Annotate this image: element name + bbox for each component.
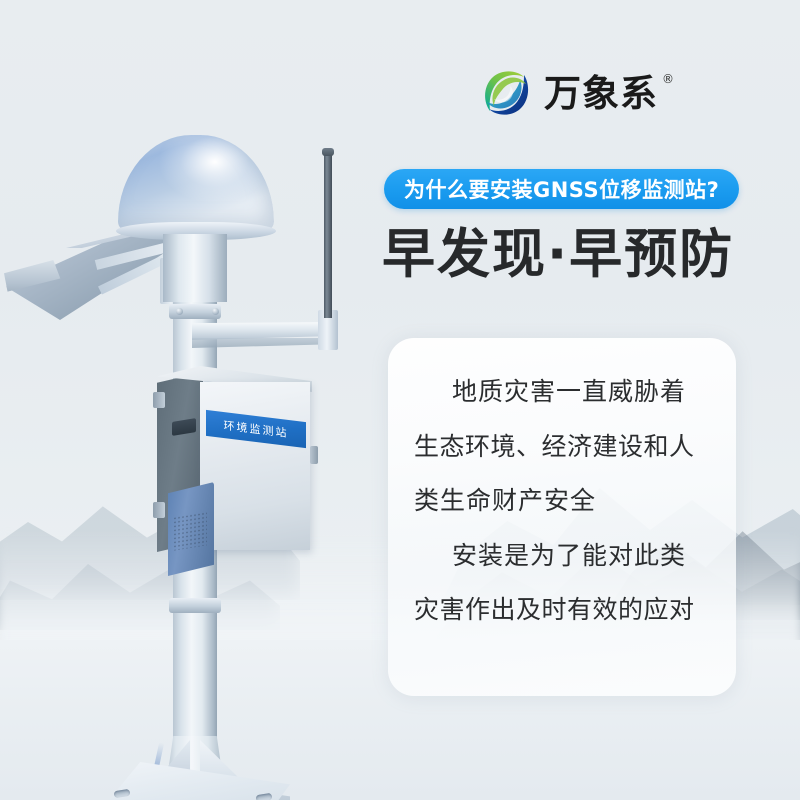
question-badge-text: 为什么要安装GNSS位移监测站? <box>404 174 719 204</box>
description-line: 类生命财产安全 <box>414 485 710 518</box>
mast-clamp-bottom <box>169 598 221 613</box>
whip-antenna-rod <box>324 152 332 318</box>
poster-canvas: 环境监测站 <box>0 0 800 800</box>
clamp-bolt <box>212 308 219 315</box>
base-bolt-slot <box>256 793 273 800</box>
description-panel: 地质灾害一直威胁着 生态环境、经济建设和人 类生命财产安全 安装是为了能对此类 … <box>388 338 736 696</box>
description-line: 生态环境、经济建设和人 <box>414 431 710 464</box>
brand-logo: 万象系 ® <box>480 66 658 120</box>
description-lines: 地质灾害一直威胁着 生态环境、经济建设和人 类生命财产安全 安装是为了能对此类 … <box>388 338 736 696</box>
enclosure-hinge-upper <box>153 392 165 408</box>
gnss-antenna-dome <box>118 135 274 231</box>
description-line: 安装是为了能对此类 <box>414 540 710 573</box>
description-line: 灾害作出及时有效的应对 <box>414 594 710 627</box>
page-title: 早发现·早预防 <box>382 226 734 284</box>
globe-swirl-icon <box>480 66 534 120</box>
brand-name-text: 万象系 <box>544 72 658 115</box>
enclosure-hinge-lower <box>153 502 165 518</box>
product-illustration: 环境监测站 <box>0 110 380 750</box>
mounting-cross-arm <box>192 322 332 340</box>
description-line: 地质灾害一直威胁着 <box>414 376 710 409</box>
cross-arm-underside <box>192 338 332 348</box>
enclosure-label-text: 环境监测站 <box>224 417 289 441</box>
whip-antenna-cap <box>322 148 334 156</box>
enclosure-mesh-grille <box>173 511 207 550</box>
enclosure-latch <box>310 446 318 464</box>
content-column: 万象系 ® 为什么要安装GNSS位移监测站? 早发现·早预防 地质灾害一直威胁着… <box>370 0 800 800</box>
clamp-bolt <box>176 308 183 315</box>
antenna-neck <box>163 234 227 302</box>
registered-trademark-icon: ® <box>662 73 675 85</box>
equipment-enclosure-box <box>200 382 310 550</box>
brand-name: 万象系 ® <box>544 75 658 112</box>
question-badge: 为什么要安装GNSS位移监测站? <box>384 169 739 209</box>
